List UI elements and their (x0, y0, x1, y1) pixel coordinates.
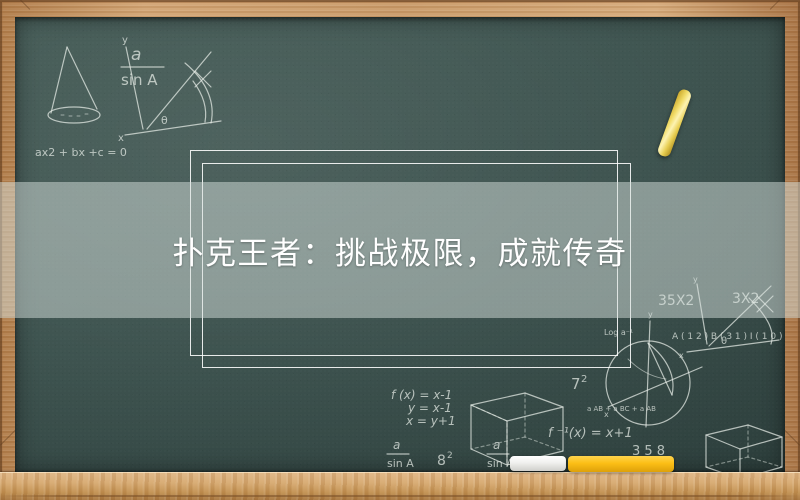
svg-text:θ: θ (161, 114, 168, 127)
top-left-chalk-group: a sin A y x θ ax2 + (25, 25, 285, 165)
eight-squared: 8 2 (437, 451, 453, 469)
svg-text:a: a (393, 438, 400, 452)
svg-text:2: 2 (581, 374, 587, 385)
chalk-tray-lip (0, 495, 800, 497)
small-cube-drawing (706, 425, 782, 472)
function-lines: f (x) = x-1 y = x-1 x = y+1 (391, 388, 456, 428)
svg-text:y = x-1: y = x-1 (407, 401, 452, 415)
banner-title-area: 扑克王者：挑战极限，成就传奇 (0, 182, 800, 318)
svg-text:2: 2 (447, 451, 453, 461)
seven-squared: 7 2 (571, 374, 587, 393)
svg-text:θ: θ (721, 336, 727, 347)
page-title: 扑克王者：挑战极限，成就传奇 (173, 228, 628, 273)
svg-text:sin A: sin A (387, 457, 414, 470)
svg-text:7: 7 (571, 375, 581, 393)
white-chalk-icon (510, 456, 566, 471)
svg-text:f (x) = x-1: f (x) = x-1 (391, 388, 452, 402)
svg-text:x: x (679, 351, 684, 360)
svg-text:x: x (604, 410, 609, 419)
svg-text:x: x (118, 133, 124, 144)
chalkboard-banner: a sin A y x θ ax2 + (0, 0, 800, 500)
yellow-chalk-icon (568, 456, 674, 472)
fraction-bottom-left: a sin A (387, 438, 414, 470)
svg-text:a: a (131, 45, 141, 65)
svg-text:x = y+1: x = y+1 (405, 414, 456, 428)
svg-text:a: a (493, 438, 500, 452)
svg-text:y: y (122, 35, 128, 46)
svg-text:sin A: sin A (121, 71, 158, 89)
quadratic-equation: ax2 + bx +c = 0 (35, 146, 127, 159)
cone-drawing (48, 47, 100, 123)
svg-text:8: 8 (437, 453, 446, 469)
